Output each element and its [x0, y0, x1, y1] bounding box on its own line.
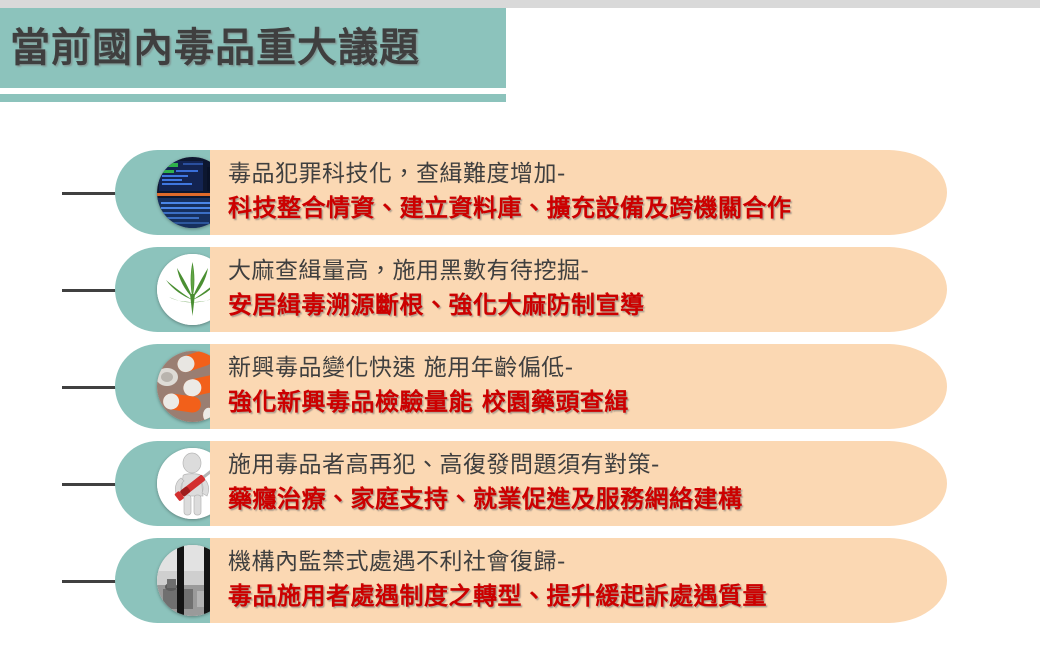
icon-holder: [115, 247, 212, 332]
response-text: 強化新興毒品檢驗量能 校園藥頭查緝: [228, 385, 947, 419]
issue-text: 施用毒品者高再犯、高復發問題須有對策-: [228, 449, 947, 482]
response-text: 科技整合情資、建立資料庫、擴充設備及跨機關合作: [228, 191, 947, 225]
page-title: 當前國內毒品重大議題: [10, 28, 420, 68]
issue-bar: 大麻查緝量高，施用黑數有待挖掘- 安居緝毒溯源斷根、強化大麻防制宣導: [210, 247, 947, 332]
top-gray-strip: [0, 0, 1040, 8]
issue-text: 新興毒品變化快速 施用年齡偏低-: [228, 352, 947, 385]
response-text: 藥癮治療、家庭支持、就業促進及服務網絡建構: [228, 482, 947, 516]
issue-list: 毒品犯罪科技化，查緝難度增加- 科技整合情資、建立資料庫、擴充設備及跨機關合作: [0, 150, 1040, 635]
slide-title-bar: 當前國內毒品重大議題: [0, 8, 506, 88]
issue-bar: 新興毒品變化快速 施用年齡偏低- 強化新興毒品檢驗量能 校園藥頭查緝: [210, 344, 947, 429]
title-underline: [0, 94, 506, 102]
issue-bar: 毒品犯罪科技化，查緝難度增加- 科技整合情資、建立資料庫、擴充設備及跨機關合作: [210, 150, 947, 235]
issue-bar: 機構內監禁式處遇不利社會復歸- 毒品施用者處遇制度之轉型、提升緩起訴處遇質量: [210, 538, 947, 623]
icon-holder: [115, 344, 212, 429]
list-item[interactable]: 大麻查緝量高，施用黑數有待挖掘- 安居緝毒溯源斷根、強化大麻防制宣導: [0, 247, 1040, 332]
issue-text: 毒品犯罪科技化，查緝難度增加-: [228, 158, 947, 191]
icon-holder: [115, 150, 212, 235]
response-text: 安居緝毒溯源斷根、強化大麻防制宣導: [228, 288, 947, 322]
list-item[interactable]: 毒品犯罪科技化，查緝難度增加- 科技整合情資、建立資料庫、擴充設備及跨機關合作: [0, 150, 1040, 235]
list-item[interactable]: 新興毒品變化快速 施用年齡偏低- 強化新興毒品檢驗量能 校園藥頭查緝: [0, 344, 1040, 429]
issue-text: 機構內監禁式處遇不利社會復歸-: [228, 546, 947, 579]
issue-bar: 施用毒品者高再犯、高復發問題須有對策- 藥癮治療、家庭支持、就業促進及服務網絡建…: [210, 441, 947, 526]
issue-text: 大麻查緝量高，施用黑數有待挖掘-: [228, 255, 947, 288]
response-text: 毒品施用者處遇制度之轉型、提升緩起訴處遇質量: [228, 579, 947, 613]
icon-holder: [115, 538, 212, 623]
icon-holder: [115, 441, 212, 526]
list-item[interactable]: 施用毒品者高再犯、高復發問題須有對策- 藥癮治療、家庭支持、就業促進及服務網絡建…: [0, 441, 1040, 526]
list-item[interactable]: 機構內監禁式處遇不利社會復歸- 毒品施用者處遇制度之轉型、提升緩起訴處遇質量: [0, 538, 1040, 623]
